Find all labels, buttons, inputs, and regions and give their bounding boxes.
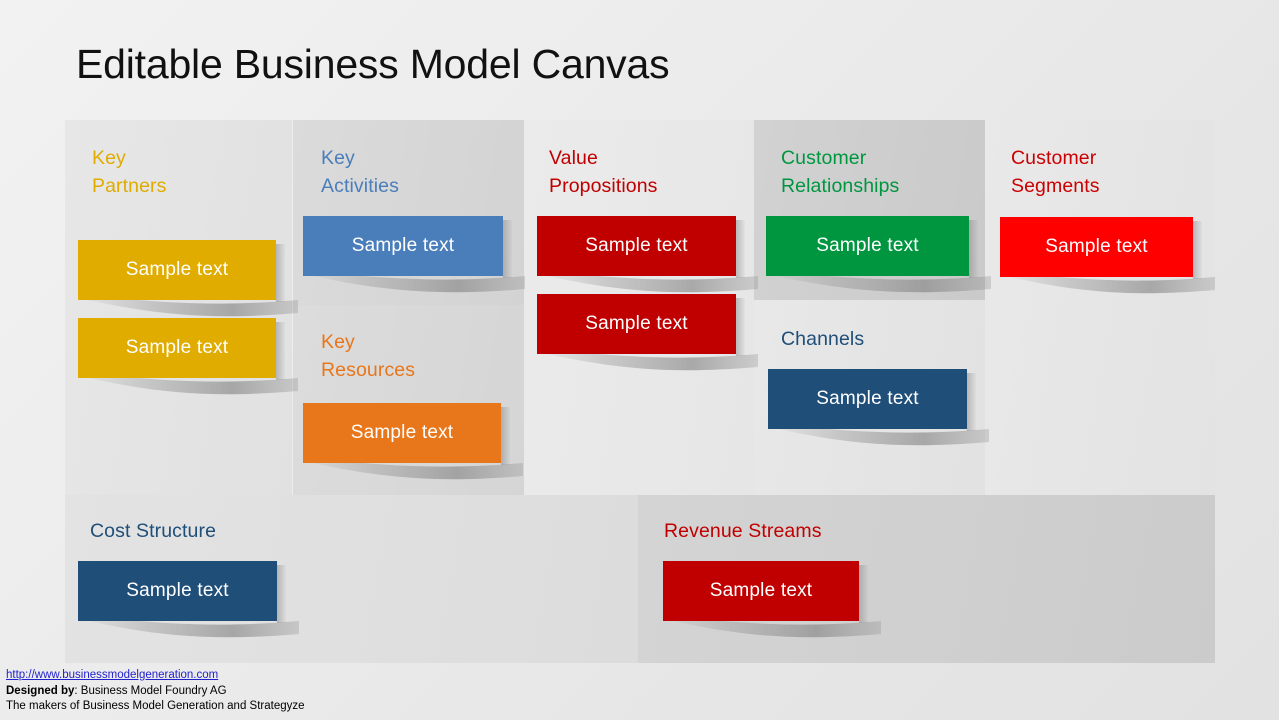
block-title-customer-relationships: Customer Relationships [781, 144, 899, 200]
footer-designed-by-value: : Business Model Foundry AG [74, 685, 226, 697]
sticky-note-label[interactable]: Sample text [537, 216, 736, 276]
block-title-customer-segments: Customer Segments [1011, 144, 1100, 200]
footer-tagline: The makers of Business Model Generation … [6, 699, 305, 715]
footer-link-businessmodelgeneration[interactable]: http://www.businessmodelgeneration.com [6, 668, 305, 684]
block-title-key-resources: Key Resources [321, 328, 415, 384]
footer-designed-by-label: Designed by [6, 685, 74, 697]
sticky-note-label[interactable]: Sample text [537, 294, 736, 354]
sticky-note-label[interactable]: Sample text [1000, 217, 1193, 277]
block-customer-segments[interactable]: Customer Segments [985, 120, 1215, 495]
sticky-note-key-resources[interactable]: Sample text [303, 403, 501, 463]
block-key-activities[interactable]: Key Activities [293, 120, 524, 305]
block-title-cost-structure: Cost Structure [90, 517, 216, 545]
sticky-note-key-partners[interactable]: Sample text [78, 240, 276, 300]
sticky-note-customer-relationships[interactable]: Sample text [766, 216, 969, 276]
block-title-key-partners: Key Partners [92, 144, 167, 200]
block-title-value-propositions: Value Propositions [549, 144, 658, 200]
sticky-note-channels[interactable]: Sample text [768, 369, 967, 429]
sticky-note-label[interactable]: Sample text [768, 369, 967, 429]
block-key-resources[interactable]: Key Resources [293, 305, 524, 495]
block-title-revenue-streams: Revenue Streams [664, 517, 822, 545]
footer: http://www.businessmodelgeneration.com D… [6, 668, 305, 715]
sticky-note-value-propositions[interactable]: Sample text [537, 216, 736, 276]
sticky-note-label[interactable]: Sample text [766, 216, 969, 276]
block-key-partners[interactable]: Key Partners [65, 120, 292, 495]
sticky-note-revenue-streams[interactable]: Sample text [663, 561, 859, 621]
sticky-note-label[interactable]: Sample text [78, 240, 276, 300]
sticky-note-label[interactable]: Sample text [303, 216, 503, 276]
block-title-channels: Channels [781, 325, 864, 353]
sticky-note-cost-structure[interactable]: Sample text [78, 561, 277, 621]
sticky-note-label[interactable]: Sample text [78, 561, 277, 621]
sticky-note-value-propositions[interactable]: Sample text [537, 294, 736, 354]
footer-designed-by: Designed by: Business Model Foundry AG [6, 684, 305, 700]
sticky-note-label[interactable]: Sample text [78, 318, 276, 378]
page-title: Editable Business Model Canvas [76, 41, 669, 88]
block-title-key-activities: Key Activities [321, 144, 399, 200]
sticky-note-label[interactable]: Sample text [303, 403, 501, 463]
sticky-note-label[interactable]: Sample text [663, 561, 859, 621]
sticky-note-key-partners[interactable]: Sample text [78, 318, 276, 378]
sticky-note-key-activities[interactable]: Sample text [303, 216, 503, 276]
sticky-note-customer-segments[interactable]: Sample text [1000, 217, 1193, 277]
